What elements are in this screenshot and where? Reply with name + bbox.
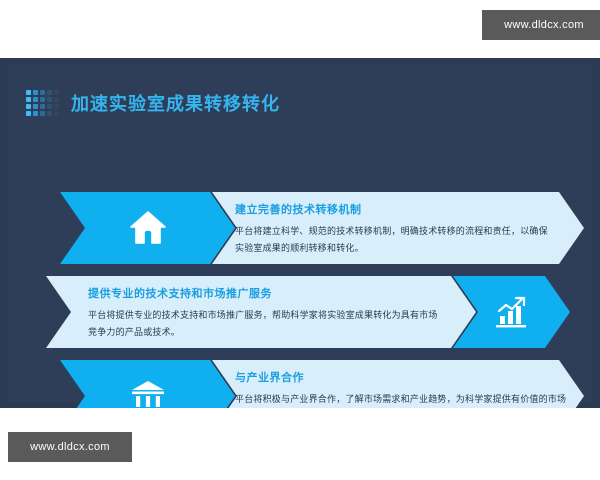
banner-3-heading: 与产业界合作	[235, 369, 570, 385]
dot-grid-dot	[54, 90, 59, 95]
dot-grid-dot	[33, 97, 38, 102]
watermark-bottom: www.dldcx.com	[8, 432, 132, 462]
banner-1-heading: 建立完善的技术转移机制	[235, 201, 555, 217]
banner-industry-cooperation[interactable]: 与产业界合作 平台将积极与产业界合作，了解市场需求和产业趋势，为科学家提供有价值…	[60, 360, 590, 408]
banner-tech-transfer-mechanism[interactable]: 建立完善的技术转移机制 平台将建立科学、规范的技术转移机制，明确技术转移的流程和…	[60, 192, 590, 264]
banner-3-body: 平台将积极与产业界合作，了解市场需求和产业趋势，为科学家提供有价值的市场信息和技…	[235, 391, 570, 408]
dot-grid-dot	[40, 90, 45, 95]
dot-grid-dot	[40, 104, 45, 109]
dot-grid-dot	[33, 111, 38, 116]
banner-1-body: 平台将建立科学、规范的技术转移机制，明确技术转移的流程和责任，以确保实验室成果的…	[235, 223, 555, 256]
banner-2-text: 提供专业的技术支持和市场推广服务 平台将提供专业的技术支持和市场推广服务，帮助科…	[88, 285, 443, 340]
dot-grid-dot	[47, 97, 52, 102]
home-icon	[60, 192, 235, 264]
banner-2-heading: 提供专业的技术支持和市场推广服务	[88, 285, 443, 301]
dot-grid-dot	[33, 104, 38, 109]
slide-card-inner: 加速实验室成果转移转化 建立完善的技术转移机制 平台将建立科学、规范的技术转移机…	[8, 64, 592, 402]
dot-grid-dot	[26, 90, 31, 95]
banner-3-text: 与产业界合作 平台将积极与产业界合作，了解市场需求和产业趋势，为科学家提供有价值…	[235, 369, 570, 408]
dot-grid-dot	[54, 97, 59, 102]
dot-grid-dot	[47, 111, 52, 116]
bank-building-icon	[60, 360, 235, 408]
slide-card: 加速实验室成果转移转化 建立完善的技术转移机制 平台将建立科学、规范的技术转移机…	[0, 58, 600, 408]
title-row: 加速实验室成果转移转化	[26, 86, 280, 120]
banner-1-text: 建立完善的技术转移机制 平台将建立科学、规范的技术转移机制，明确技术转移的流程和…	[235, 201, 555, 256]
watermark-top: www.dldcx.com	[482, 10, 600, 40]
dot-grid-dot	[40, 111, 45, 116]
page-title: 加速实验室成果转移转化	[71, 90, 280, 116]
dot-grid-dot	[47, 104, 52, 109]
dot-grid-icon	[26, 90, 59, 116]
bar-chart-growth-icon	[453, 276, 570, 348]
dot-grid-dot	[26, 97, 31, 102]
banner-2-body: 平台将提供专业的技术支持和市场推广服务，帮助科学家将实验室成果转化为具有市场竞争…	[88, 307, 443, 340]
dot-grid-dot	[26, 111, 31, 116]
dot-grid-dot	[54, 111, 59, 116]
dot-grid-dot	[26, 104, 31, 109]
dot-grid-dot	[54, 104, 59, 109]
dot-grid-dot	[40, 97, 45, 102]
dot-grid-dot	[47, 90, 52, 95]
dot-grid-dot	[33, 90, 38, 95]
banner-technical-support-marketing[interactable]: 提供专业的技术支持和市场推广服务 平台将提供专业的技术支持和市场推广服务，帮助科…	[46, 276, 576, 348]
